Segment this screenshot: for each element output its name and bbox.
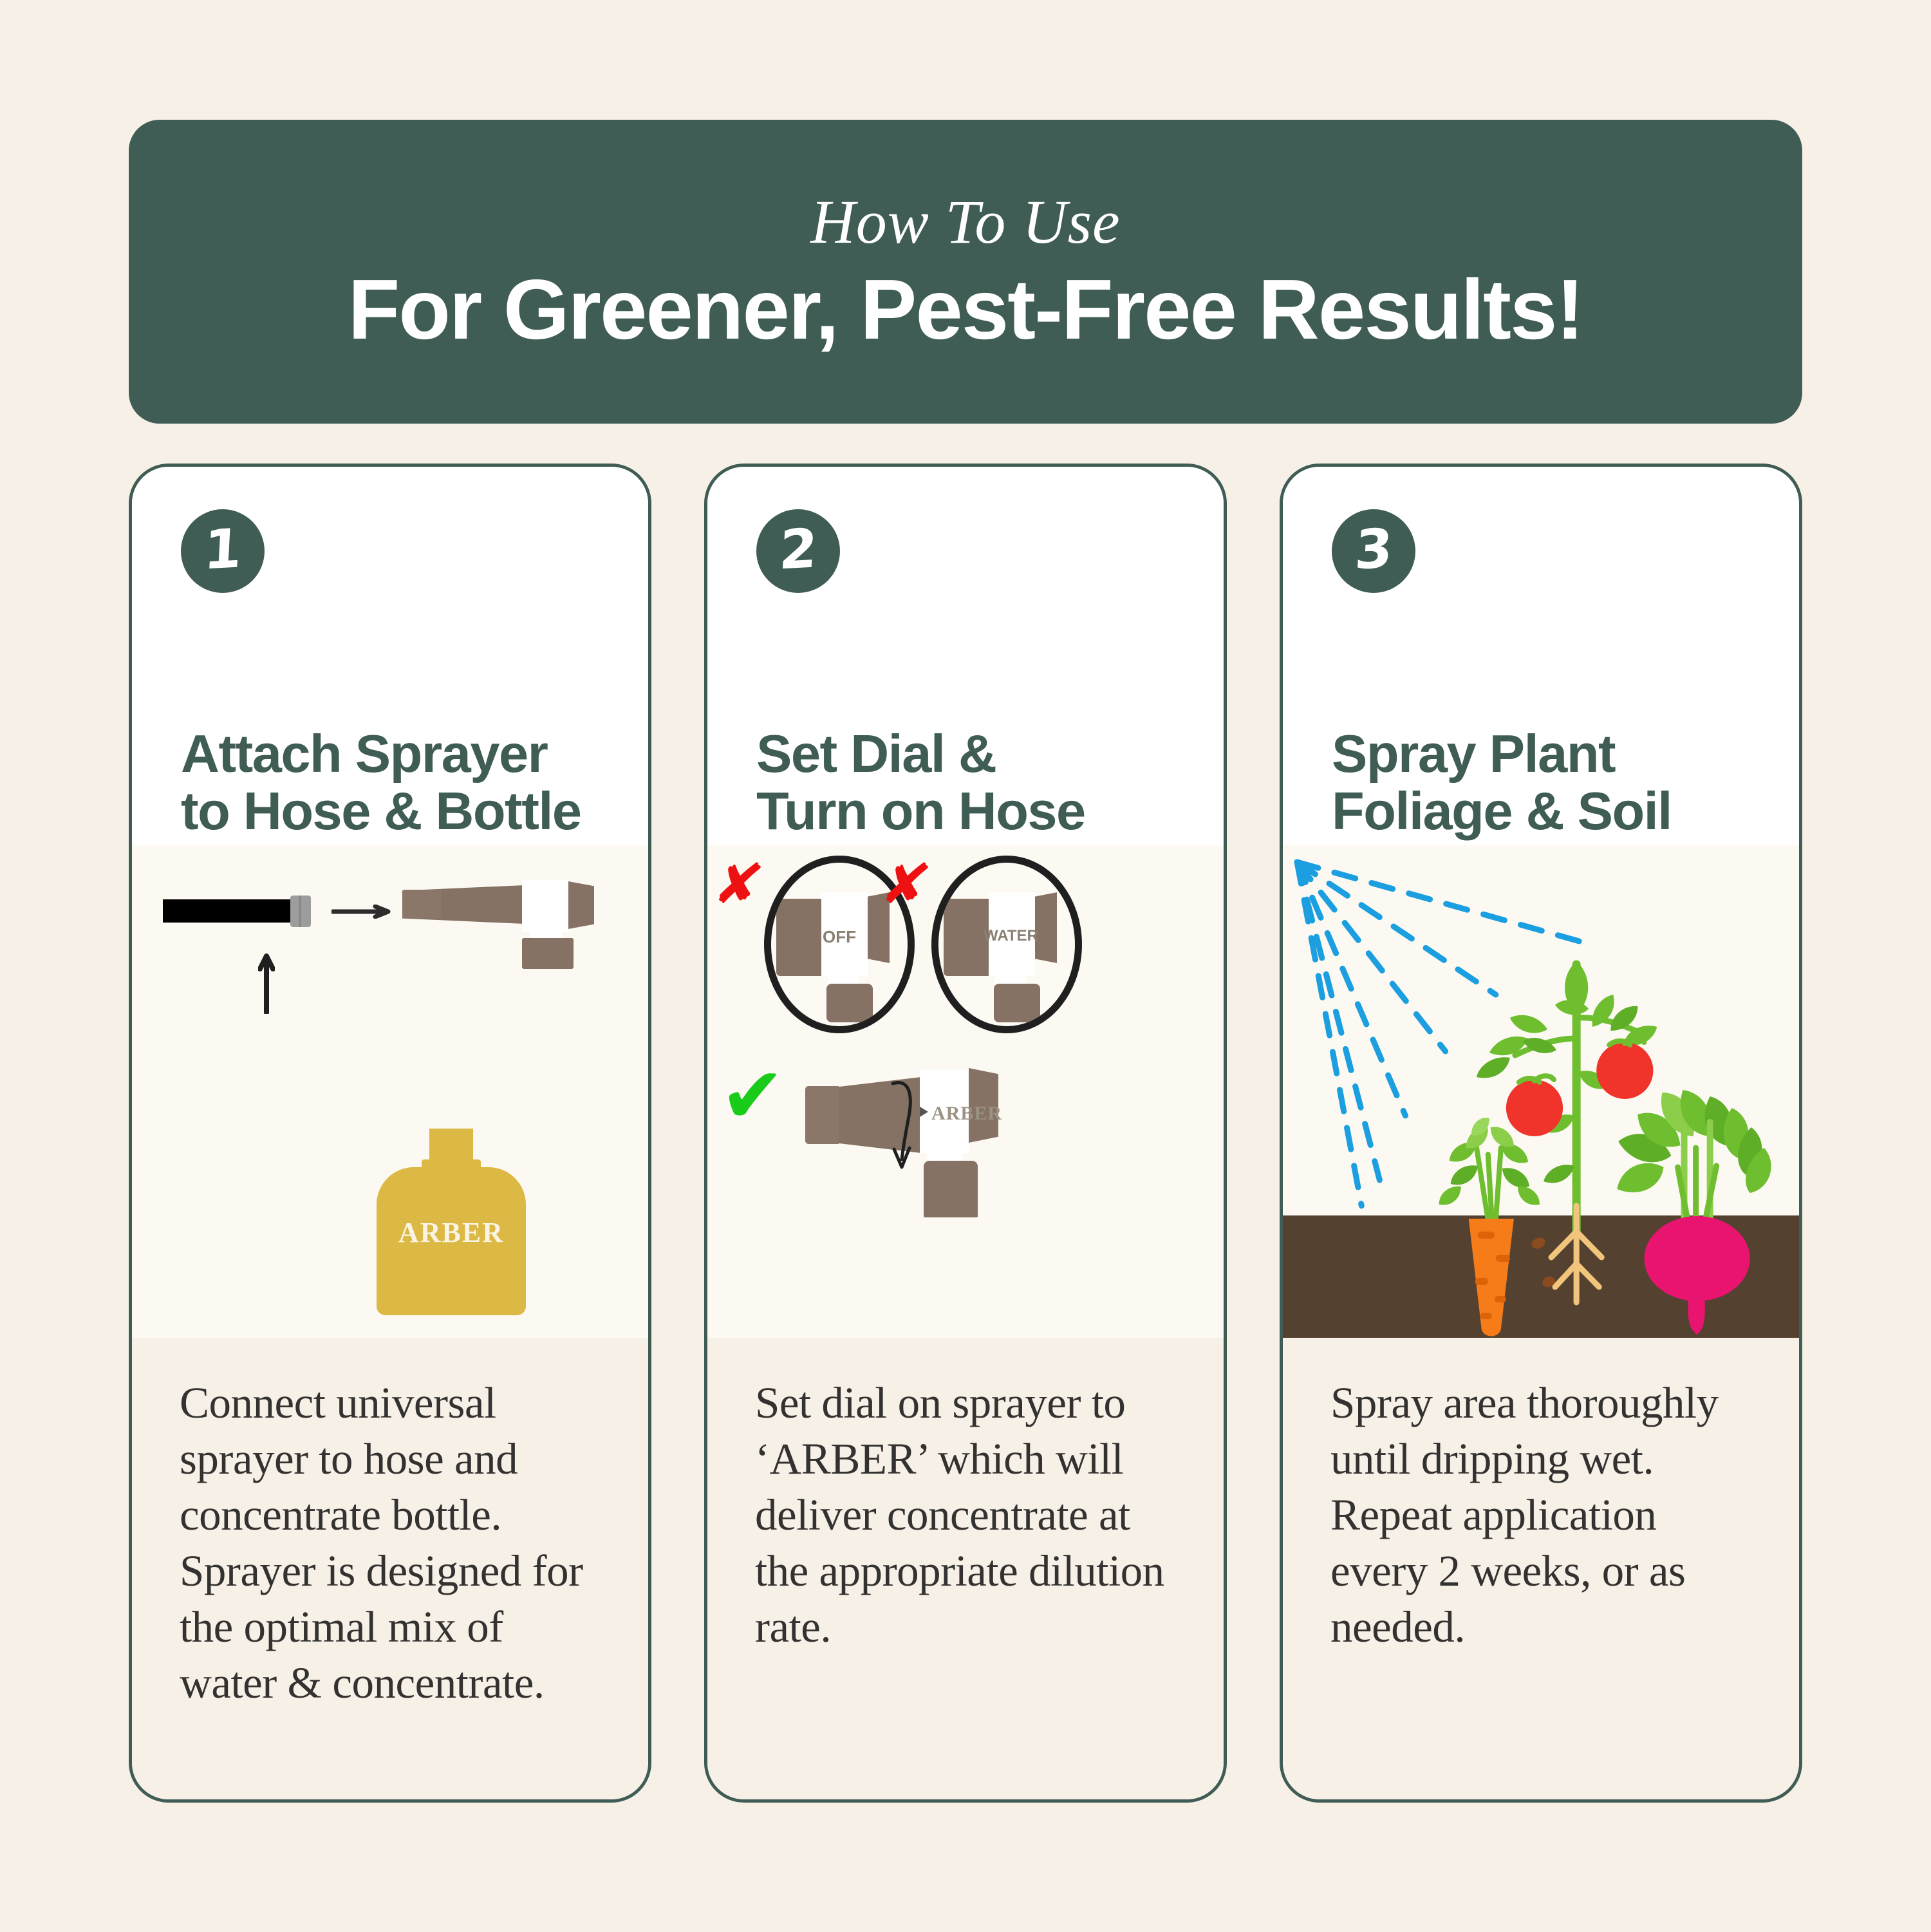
step-card-3: 3 Spray Plant Foliage & Soil bbox=[1280, 464, 1802, 1803]
header-banner: How To Use For Greener, Pest-Free Result… bbox=[129, 120, 1802, 424]
bottle-neck bbox=[429, 1129, 473, 1162]
sprayer-dial-body bbox=[522, 880, 570, 932]
dial-pointer-icon-2 bbox=[975, 930, 982, 940]
tomato-fruit-left bbox=[1506, 1076, 1563, 1136]
header-kicker: How To Use bbox=[810, 191, 1120, 253]
step-title-1: Attach Sprayer to Hose & Bottle bbox=[181, 725, 599, 845]
arrow-right-icon bbox=[331, 905, 393, 919]
rotate-arrow-icon bbox=[884, 1069, 917, 1172]
step-2-description: Set dial on sprayer to ‘ARBER’ which wil… bbox=[755, 1375, 1176, 1655]
step-2-body: Set dial on sprayer to ‘ARBER’ which wil… bbox=[707, 1338, 1224, 1799]
arrow-up-icon bbox=[258, 952, 275, 1014]
sprayer-barrel-end bbox=[402, 890, 441, 918]
tomato-fruit-right bbox=[1596, 1038, 1653, 1099]
step-number-badge-2: 2 bbox=[756, 509, 840, 593]
sprayer-nozzle bbox=[568, 881, 594, 929]
dial-label-water: WATER bbox=[984, 927, 1038, 945]
bottle-brand-label: ARBER bbox=[377, 1216, 526, 1249]
dial-label-off: OFF bbox=[823, 927, 856, 947]
header-title: For Greener, Pest-Free Results! bbox=[348, 267, 1583, 352]
step-1-header: 1 Attach Sprayer to Hose & Bottle bbox=[132, 467, 648, 845]
check-mark-icon: ✔ bbox=[720, 1058, 785, 1135]
step-number-2: 2 bbox=[778, 521, 818, 577]
x-mark-icon-1: ✘ bbox=[709, 857, 767, 912]
beet-icon bbox=[1617, 1090, 1771, 1335]
concentrate-bottle-icon: ARBER bbox=[371, 1129, 532, 1315]
sprayer-bottle-collar bbox=[924, 1161, 978, 1217]
step-card-2: 2 Set Dial & Turn on Hose ✘ OFF ✘ bbox=[704, 464, 1227, 1803]
step-3-illustration bbox=[1283, 845, 1799, 1338]
dial-collar bbox=[826, 984, 873, 1022]
step-3-body: Spray area thoroughly until dripping wet… bbox=[1283, 1338, 1799, 1799]
step-title-2: Set Dial & Turn on Hose bbox=[756, 725, 1175, 845]
infographic-page: How To Use For Greener, Pest-Free Result… bbox=[0, 0, 1931, 1932]
step-3-header: 3 Spray Plant Foliage & Soil bbox=[1283, 467, 1799, 845]
step-number-badge-1: 1 bbox=[181, 509, 265, 593]
dial-pointer-icon-1 bbox=[814, 930, 821, 940]
step-card-1: 1 Attach Sprayer to Hose & Bottle bbox=[129, 464, 651, 1803]
step-1-body: Connect universal sprayer to hose and co… bbox=[132, 1338, 648, 1799]
step-2-header: 2 Set Dial & Turn on Hose bbox=[707, 467, 1224, 845]
step-1-illustration: ARBER bbox=[132, 845, 648, 1338]
step-title-3: Spray Plant Foliage & Soil bbox=[1332, 725, 1750, 845]
steps-row: 1 Attach Sprayer to Hose & Bottle bbox=[129, 464, 1802, 1803]
step-number-3: 3 bbox=[1353, 521, 1394, 577]
dial-right-body bbox=[1035, 892, 1057, 963]
dial-closeup-water: WATER bbox=[931, 856, 1082, 1033]
dial-collar bbox=[994, 984, 1040, 1022]
step-2-illustration: ✘ OFF ✘ bbox=[707, 845, 1224, 1338]
sprayer-bottle-collar bbox=[522, 938, 574, 969]
hose-cuff-icon bbox=[290, 896, 311, 927]
step-3-description: Spray area thoroughly until dripping wet… bbox=[1330, 1375, 1751, 1655]
step-number-badge-3: 3 bbox=[1332, 509, 1415, 593]
sprayer-barrel-end bbox=[805, 1086, 839, 1144]
step-1-description: Connect universal sprayer to hose and co… bbox=[180, 1375, 601, 1711]
hose-icon bbox=[163, 899, 290, 923]
carrot-icon bbox=[1439, 1118, 1540, 1336]
dial-label-arber: ARBER bbox=[931, 1103, 1002, 1125]
step-number-1: 1 bbox=[202, 521, 243, 577]
dial-pointer-icon-3 bbox=[920, 1107, 928, 1117]
soil-specks bbox=[1530, 1235, 1557, 1289]
x-mark-icon-2: ✘ bbox=[877, 857, 935, 912]
plants-illustration bbox=[1283, 845, 1799, 1338]
